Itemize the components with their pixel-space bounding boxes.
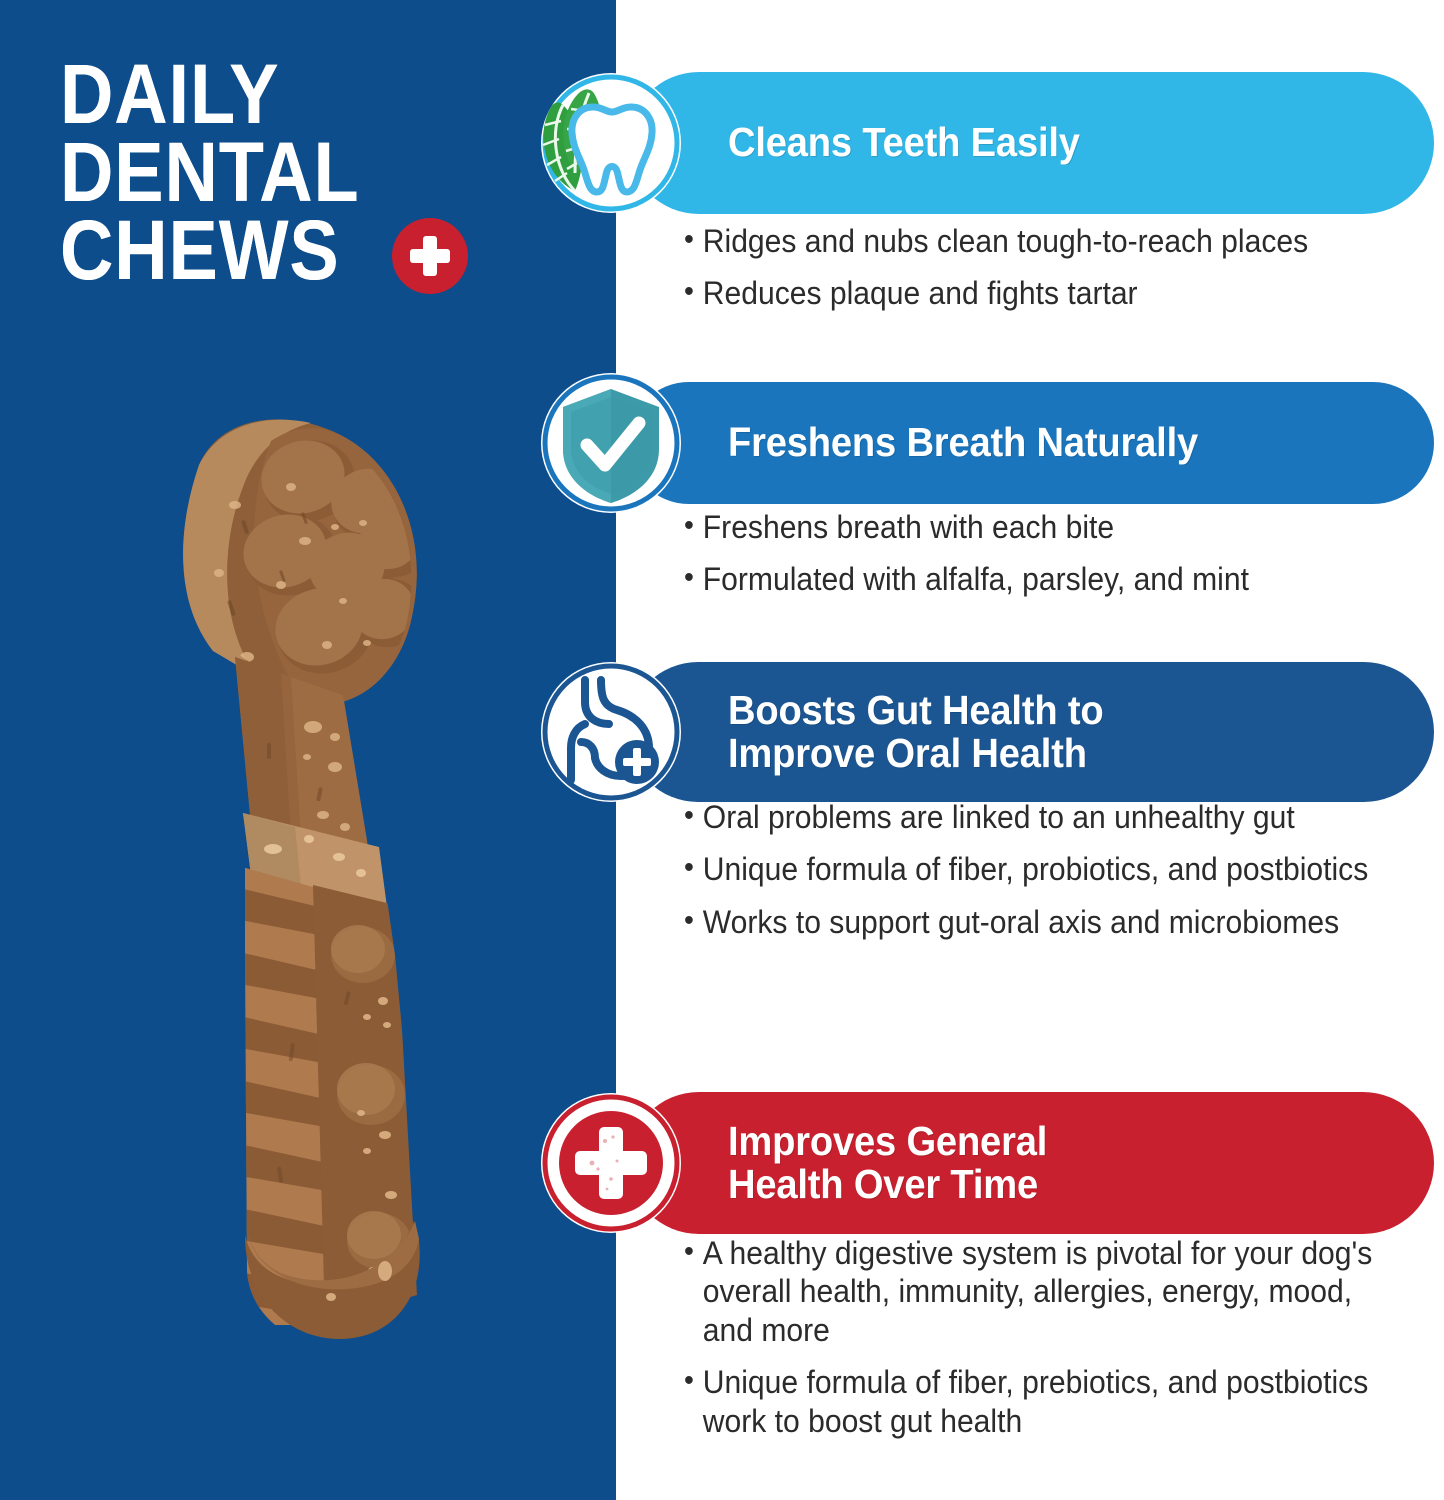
bullet-marker-icon: • xyxy=(684,850,703,886)
bullet-text: Freshens breath with each bite xyxy=(703,508,1399,546)
title-line-chews-row: CHEWS xyxy=(60,211,490,289)
benefit-title-cleans-teeth: Cleans Teeth Easily xyxy=(728,121,1080,164)
bullet-text: Unique formula of fiber, prebiotics, and… xyxy=(703,1363,1399,1440)
bullet-marker-icon: • xyxy=(684,1234,703,1270)
benefit-banner-cleans-teeth: Cleans Teeth Easily xyxy=(628,72,1434,214)
benefit-bullets-improves-general-health: •A healthy digestive system is pivotal f… xyxy=(684,1234,1444,1454)
bullet-marker-icon: • xyxy=(684,222,703,258)
medical-cross-circle-icon xyxy=(541,1093,681,1233)
benefit-banner-boosts-gut-health: Boosts Gut Health to Improve Oral Health xyxy=(628,662,1434,802)
bullet-marker-icon: • xyxy=(684,798,703,834)
left-blue-panel: DAILY DENTAL CHEWS xyxy=(0,0,616,1500)
bullet-item: •Ridges and nubs clean tough-to-reach pl… xyxy=(684,222,1398,260)
dental-chew-svg xyxy=(95,395,525,1385)
title-line-daily: DAILY xyxy=(60,55,438,133)
title-line-chews: CHEWS xyxy=(60,211,340,289)
page-title: DAILY DENTAL CHEWS xyxy=(60,55,490,289)
bullet-item: •Freshens breath with each bite xyxy=(684,508,1398,546)
shield-check-icon xyxy=(541,373,681,513)
benefit-banner-improves-general-health: Improves General Health Over Time xyxy=(628,1092,1434,1234)
benefit-icon-boosts-gut-health xyxy=(541,662,681,802)
benefit-title-boosts-gut-health: Boosts Gut Health to Improve Oral Health xyxy=(728,689,1103,776)
benefit-icon-improves-general-health xyxy=(541,1093,681,1233)
bullet-text: Formulated with alfalfa, parsley, and mi… xyxy=(703,560,1399,598)
bullet-item: •Reduces plaque and fights tartar xyxy=(684,274,1398,312)
infographic-page: DAILY DENTAL CHEWS xyxy=(0,0,1444,1500)
benefit-title-improves-general-health: Improves General Health Over Time xyxy=(728,1120,1047,1207)
bullet-item: •Oral problems are linked to an unhealth… xyxy=(684,798,1398,836)
benefit-bullets-cleans-teeth: •Ridges and nubs clean tough-to-reach pl… xyxy=(684,222,1444,327)
bullet-marker-icon: • xyxy=(684,903,703,939)
bullet-marker-icon: • xyxy=(684,508,703,544)
chew-head xyxy=(183,419,436,704)
bullet-text: Oral problems are linked to an unhealthy… xyxy=(703,798,1399,836)
benefit-bullets-freshens-breath: •Freshens breath with each bite•Formulat… xyxy=(684,508,1444,613)
bullet-item: •A healthy digestive system is pivotal f… xyxy=(684,1234,1398,1349)
bullet-text: Reduces plaque and fights tartar xyxy=(703,274,1399,312)
chew-body xyxy=(235,865,420,1339)
bullet-text: Ridges and nubs clean tough-to-reach pla… xyxy=(703,222,1399,260)
medical-cross-icon xyxy=(392,218,468,294)
bullet-text: Unique formula of fiber, probiotics, and… xyxy=(703,850,1399,888)
benefit-icon-freshens-breath xyxy=(541,373,681,513)
tooth-with-mint-leaves-icon xyxy=(541,73,681,213)
benefit-icon-cleans-teeth xyxy=(541,73,681,213)
bullet-item: •Unique formula of fiber, probiotics, an… xyxy=(684,850,1398,888)
bullet-text: Works to support gut-oral axis and micro… xyxy=(703,903,1399,941)
bullet-item: •Unique formula of fiber, prebiotics, an… xyxy=(684,1363,1398,1440)
title-line-dental: DENTAL xyxy=(60,133,438,211)
benefit-banner-freshens-breath: Freshens Breath Naturally xyxy=(628,382,1434,504)
stomach-plus-icon xyxy=(541,662,681,802)
bullet-item: •Works to support gut-oral axis and micr… xyxy=(684,903,1398,941)
bullet-marker-icon: • xyxy=(684,274,703,310)
bullet-item: •Formulated with alfalfa, parsley, and m… xyxy=(684,560,1398,598)
benefit-title-freshens-breath: Freshens Breath Naturally xyxy=(728,421,1198,464)
bullet-marker-icon: • xyxy=(684,560,703,596)
benefit-bullets-boosts-gut-health: •Oral problems are linked to an unhealth… xyxy=(684,798,1444,955)
bullet-marker-icon: • xyxy=(684,1363,703,1399)
dental-chew-illustration xyxy=(95,395,525,1385)
bullet-text: A healthy digestive system is pivotal fo… xyxy=(703,1234,1399,1349)
